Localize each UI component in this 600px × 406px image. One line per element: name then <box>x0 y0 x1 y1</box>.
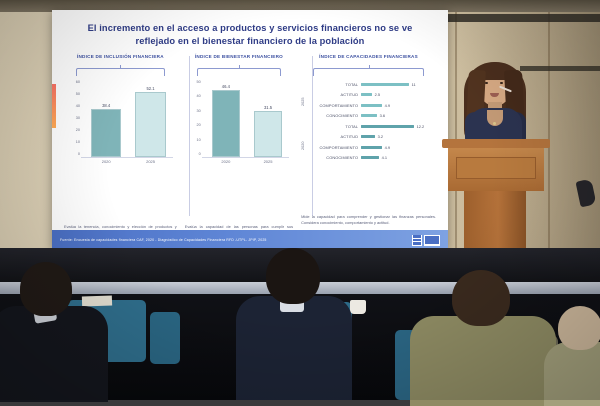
source-citation: Fuente: Encuesta de capacidades financie… <box>60 238 412 242</box>
audience-body <box>544 342 600 406</box>
x-tick: 2020 <box>91 159 121 164</box>
audience-head <box>266 248 320 304</box>
audience-head <box>20 262 72 316</box>
column-3-desc-1: Mide la capacidad para comprender y gest… <box>301 214 436 226</box>
hbar-total-2020 <box>361 125 414 128</box>
bar-value-label: 38.4 <box>102 103 110 108</box>
column-2-brace <box>197 68 281 76</box>
chart-2-y-axis: 50 40 30 20 10 0 <box>187 81 201 157</box>
logo-grid-icon <box>412 235 422 246</box>
chart-2-x-labels: 2020 2025 <box>205 159 289 164</box>
hbar-value: 4.1 <box>379 155 387 160</box>
hbar-label: ACTITUD <box>313 92 361 97</box>
hbar-actitud-2020 <box>361 135 375 138</box>
column-bienestar-financiero: ÍNDICE DE BIENESTAR FINANCIERO 50 40 30 … <box>181 54 297 222</box>
y-tick: 30 <box>197 110 201 114</box>
y-tick: 0 <box>78 153 80 157</box>
hbar-label: COMPORTAMIENTO <box>313 145 361 150</box>
chart-2-bars: 46.4 31.5 <box>205 81 289 157</box>
hbar-total-2025 <box>361 83 409 86</box>
y-tick: 0 <box>199 153 201 157</box>
audience-head <box>558 306 600 350</box>
chart-bienestar-financiero: 50 40 30 20 10 0 46.4 <box>185 79 293 171</box>
y-tick: 50 <box>76 93 80 97</box>
hbar-conocimiento-2025 <box>361 114 377 117</box>
hbar-row: ACTITUD 3.2 <box>313 132 436 143</box>
hbar-comportamiento-2025 <box>361 104 382 107</box>
y-tick: 60 <box>76 81 80 85</box>
audience-body <box>410 316 556 406</box>
column-inclusion-financiera: ÍNDICE DE INCLUSIÓN FINANCIERA 60 50 40 … <box>60 54 181 222</box>
presentation-slide: El incremento en el acceso a productos y… <box>52 10 448 250</box>
wall-dark-band <box>435 14 600 22</box>
x-tick: 2025 <box>254 159 283 164</box>
y-tick: 40 <box>197 95 201 99</box>
bar-value-label: 52.1 <box>146 86 154 91</box>
chart-1-baseline <box>81 157 173 158</box>
photo-scene: El incremento en el acceso a productos y… <box>0 0 600 400</box>
chart-2-baseline <box>202 157 289 158</box>
slide-columns: ÍNDICE DE INCLUSIÓN FINANCIERA 60 50 40 … <box>60 54 440 222</box>
hbar-row: CONOCIMIENTO 4.1 <box>313 153 436 164</box>
bar-value-label: 31.5 <box>264 105 272 110</box>
hbar-comportamiento-2020 <box>361 146 382 149</box>
column-capacidades-financieras: ÍNDICE DE CAPACIDADES FINANCIERAS 2025 2… <box>297 54 440 222</box>
bar-2025 <box>135 92 165 157</box>
audience-member <box>414 270 550 400</box>
hbar-row: TOTAL 11 <box>313 79 436 90</box>
bar-group: 38.4 <box>91 103 121 158</box>
x-tick: 2020 <box>212 159 241 164</box>
hbar-row: COMPORTAMIENTO 4.9 <box>313 100 436 111</box>
hbar-label: TOTAL <box>313 124 361 129</box>
y-tick: 20 <box>76 129 80 133</box>
y-tick: 10 <box>76 141 80 145</box>
audience-member <box>236 248 352 400</box>
y-tick: 10 <box>197 139 201 143</box>
group-label-2020: 2020 <box>301 125 313 167</box>
coffee-cup <box>350 300 366 314</box>
column-1-brace <box>76 68 165 76</box>
audience-head <box>452 270 510 326</box>
chart-1-y-axis: 60 50 40 30 20 10 0 <box>66 81 80 157</box>
hbar-row: ACTITUD 2.5 <box>313 90 436 101</box>
hbar-value: 12.2 <box>414 124 424 129</box>
organization-logos <box>412 235 440 246</box>
chart-1-bars: 38.4 52.1 <box>84 81 173 157</box>
chart-1-x-labels: 2020 2025 <box>84 159 173 164</box>
y-tick: 20 <box>197 124 201 128</box>
bar-group: 52.1 <box>135 86 165 158</box>
bar-value-label: 46.4 <box>222 84 230 89</box>
presenter-mouth <box>490 93 499 97</box>
hbar-label: TOTAL <box>313 82 361 87</box>
chair <box>150 312 180 364</box>
hbar-row: CONOCIMIENTO 3.6 <box>313 111 436 122</box>
podium-inset-panel <box>456 157 536 179</box>
chart-inclusion-financiera: 60 50 40 30 20 10 0 38.4 <box>64 79 177 171</box>
bar-group: 31.5 <box>254 105 283 158</box>
y-tick: 30 <box>76 117 80 121</box>
y-tick: 40 <box>76 105 80 109</box>
hbar-row: TOTAL 12.2 <box>313 121 436 132</box>
hbar-value: 11 <box>409 82 416 87</box>
x-tick: 2025 <box>135 159 165 164</box>
bar-2020 <box>212 90 241 157</box>
slide-accent-bar <box>52 84 56 128</box>
group-label-2025: 2025 <box>301 81 313 123</box>
hbar-value: 4.9 <box>382 103 390 108</box>
hbar-label: CONOCIMIENTO <box>313 155 361 160</box>
chart-capacidades-financieras: 2025 2020 TOTAL 11 ACTITUD 2.5 <box>301 79 436 177</box>
hbar-value: 3.6 <box>377 113 385 118</box>
hbar-label: ACTITUD <box>313 134 361 139</box>
hbar-actitud-2025 <box>361 93 372 96</box>
projection-screen: El incremento en el acceso a productos y… <box>52 10 448 250</box>
bar-2025 <box>254 111 283 157</box>
y-tick: 50 <box>197 81 201 85</box>
hbar-value: 2.5 <box>372 92 380 97</box>
slide-footer: Fuente: Encuesta de capacidades financie… <box>52 230 448 250</box>
audience-member <box>548 306 600 400</box>
hbar-label: COMPORTAMIENTO <box>313 103 361 108</box>
presenter-necklace <box>493 122 496 125</box>
bar-2020 <box>91 109 121 157</box>
column-3-brace <box>313 68 424 76</box>
bar-group: 46.4 <box>212 84 241 158</box>
page-title: El incremento en el acceso a productos y… <box>78 22 422 48</box>
audience-member <box>0 262 106 400</box>
logo-wordmark-icon <box>424 235 440 246</box>
hbar-value: 3.2 <box>375 134 383 139</box>
hbar-value: 4.9 <box>382 145 390 150</box>
hbar-label: CONOCIMIENTO <box>313 113 361 118</box>
hbar-row: COMPORTAMIENTO 4.9 <box>313 142 436 153</box>
podium-top-surface <box>442 139 550 148</box>
hbar-conocimiento-2020 <box>361 156 379 159</box>
